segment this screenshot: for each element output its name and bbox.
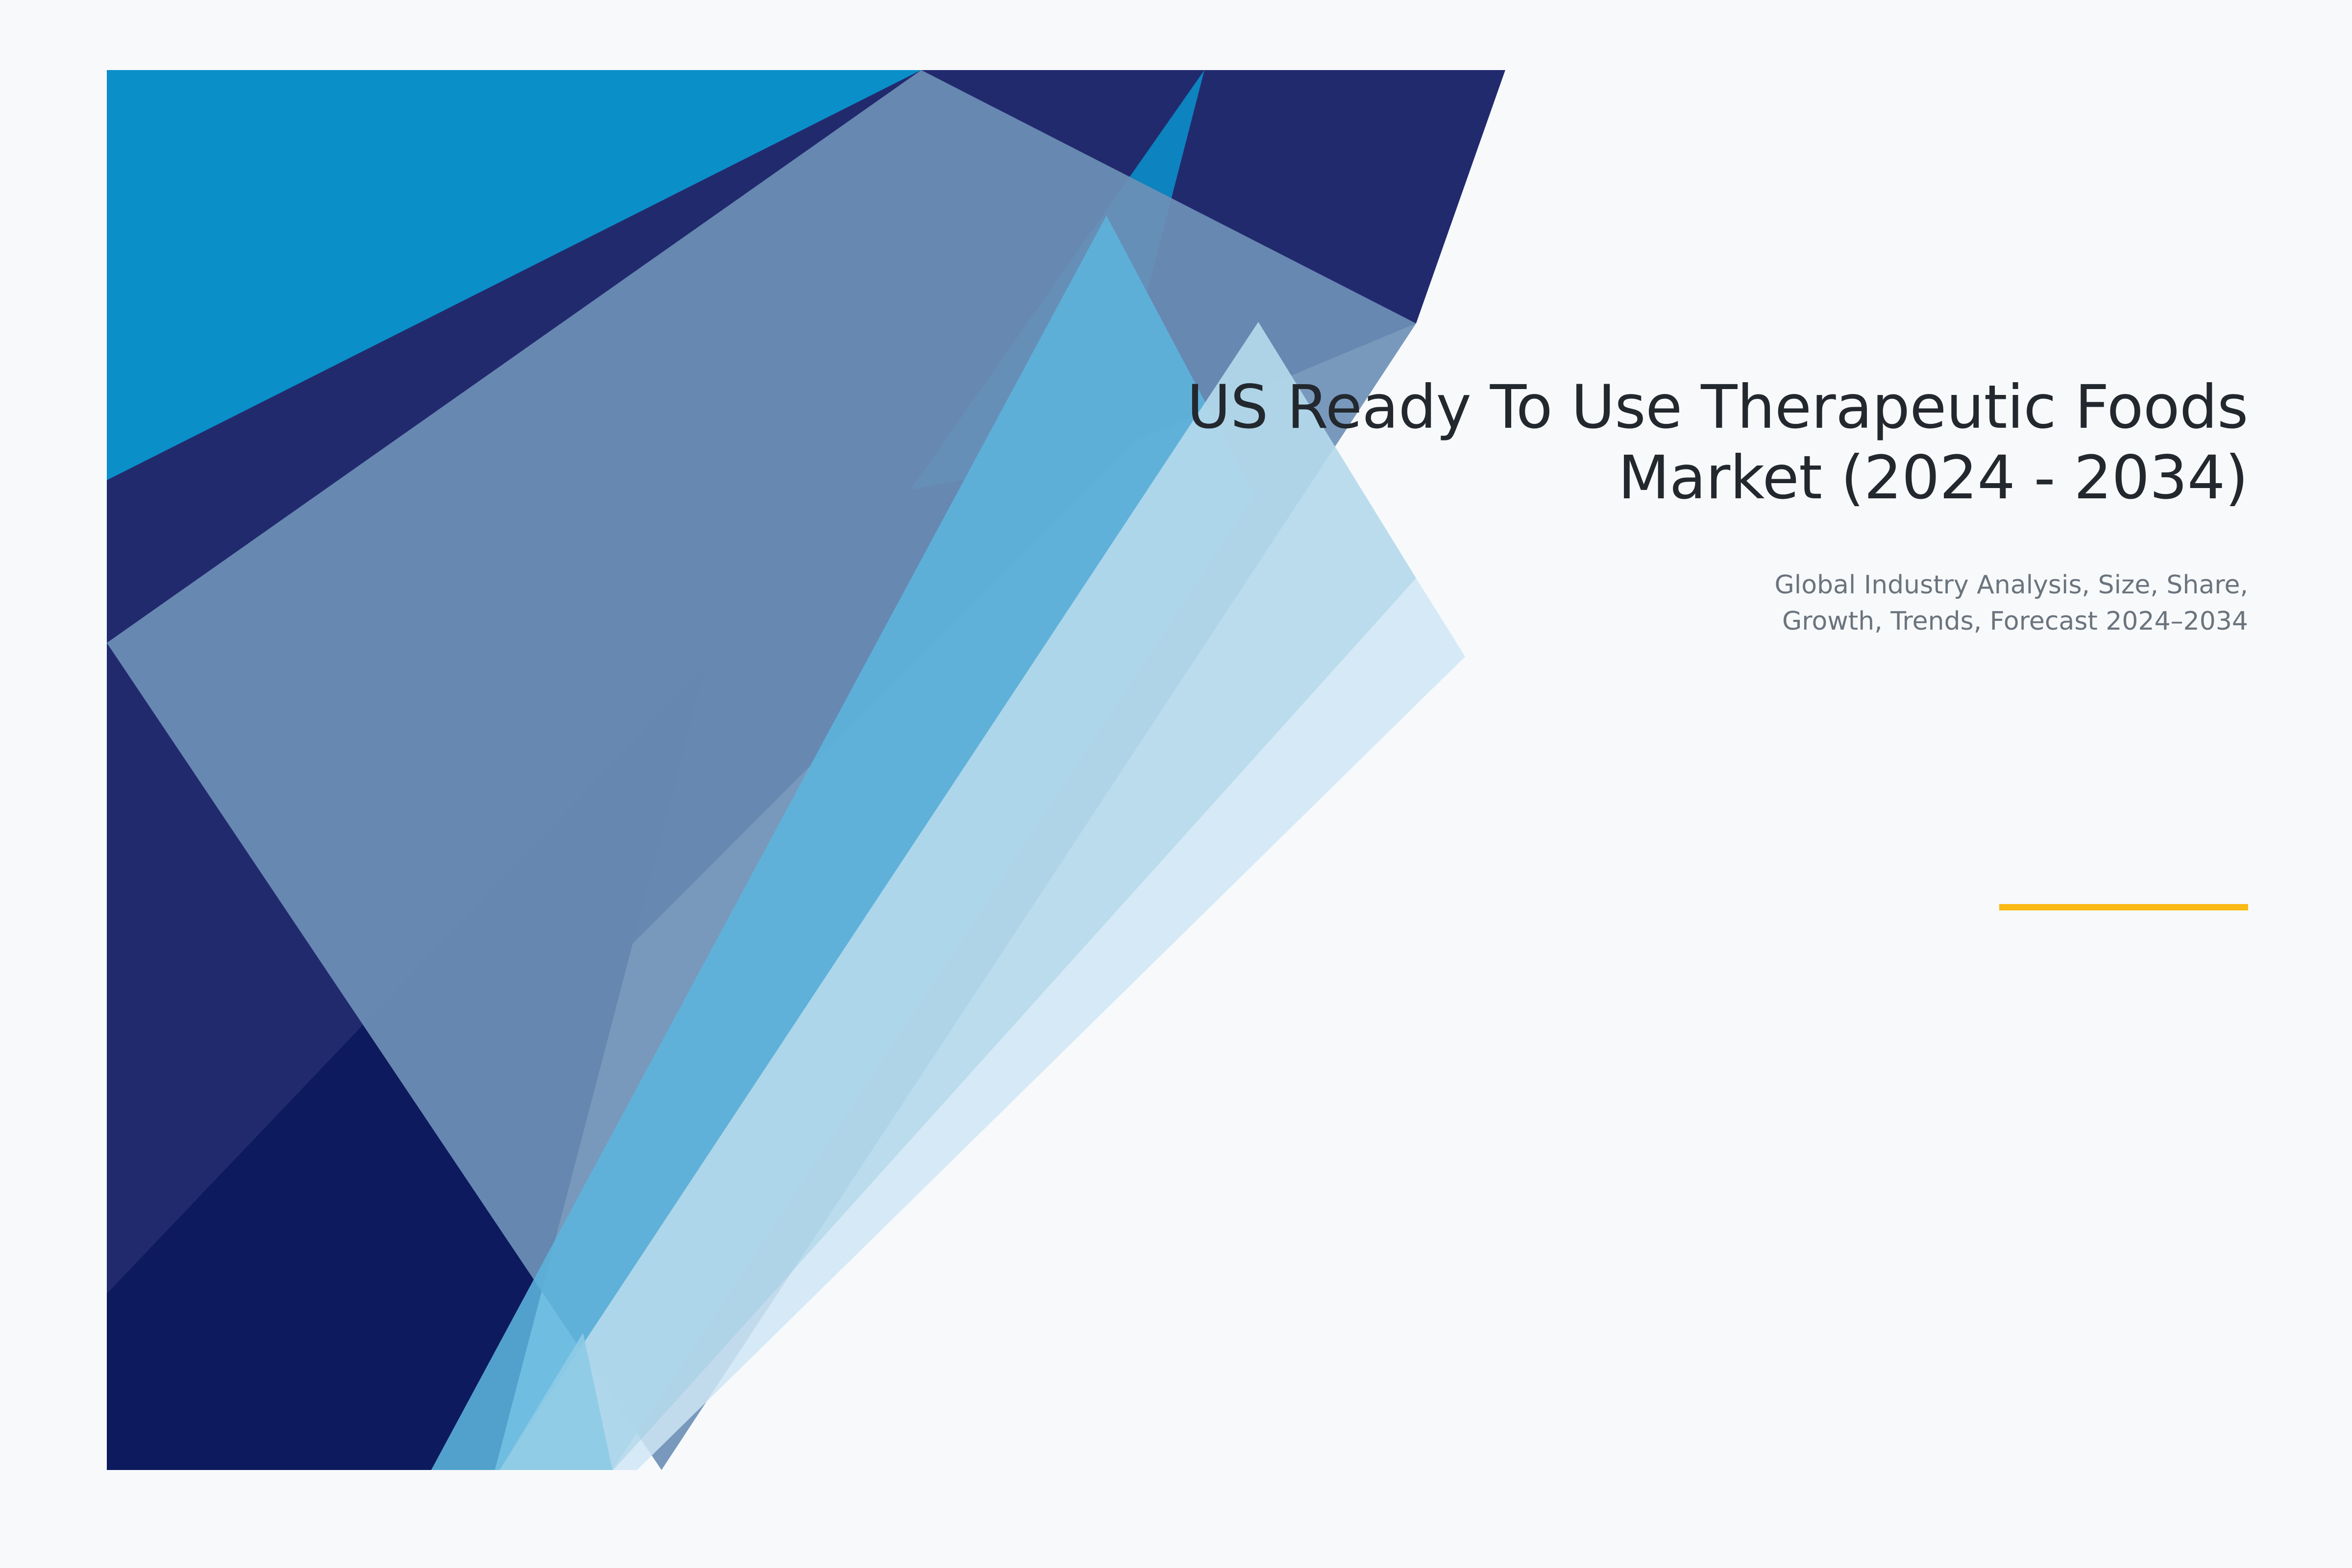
abstract-geometric-artwork [0,0,2352,1568]
page-title: US Ready To Use Therapeutic Foods Market… [778,372,2248,514]
page-title-line-2: Market (2024 - 2034) [1618,443,2248,513]
title-accent-underline [1999,904,2248,910]
page-subtitle-line-2: Growth, Trends, Forecast 2024–2034 [1782,607,2248,636]
page-subtitle-line-1: Global Industry Analysis, Size, Share, [1774,570,2248,600]
cover-text-block: US Ready To Use Therapeutic Foods Market… [778,372,2248,640]
page-title-line-1: US Ready To Use Therapeutic Foods [1187,372,2248,442]
page-subtitle: Global Industry Analysis, Size, Share, G… [778,514,2248,640]
report-cover: US Ready To Use Therapeutic Foods Market… [0,0,2352,1568]
